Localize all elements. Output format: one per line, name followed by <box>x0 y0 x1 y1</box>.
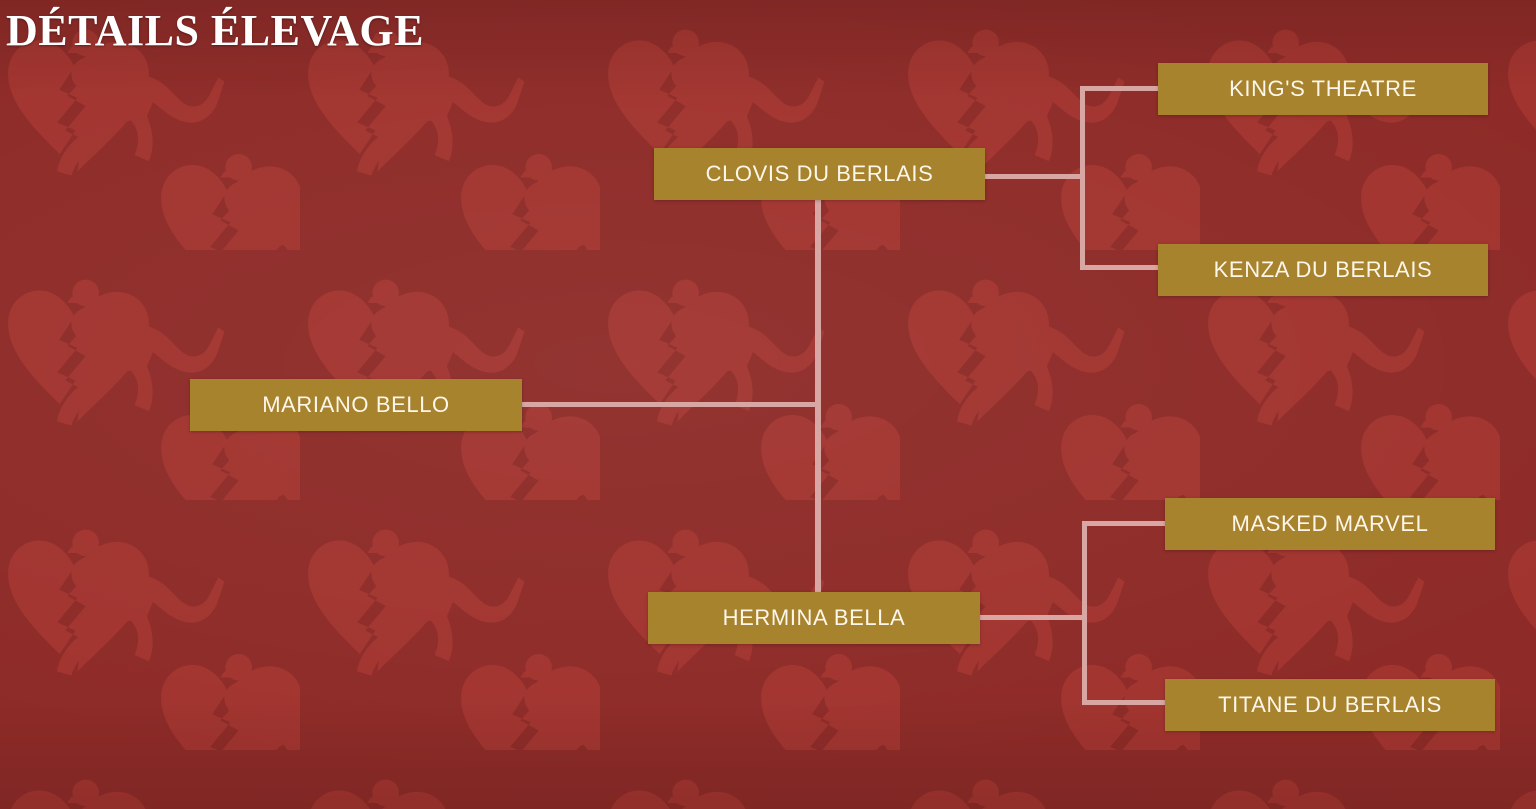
pedigree-node-label: KING'S THEATRE <box>1229 76 1417 102</box>
pedigree-node-label: TITANE DU BERLAIS <box>1218 692 1442 718</box>
pedigree-node-dam[interactable]: HERMINA BELLA <box>648 592 980 644</box>
pedigree-node-label: CLOVIS DU BERLAIS <box>706 161 934 187</box>
connector-dam-sire-branch <box>1082 521 1168 526</box>
connector-dam-trunk <box>980 615 1085 620</box>
pedigree-node-subject[interactable]: MARIANO BELLO <box>190 379 522 431</box>
pedigree-node-sire-dam[interactable]: KENZA DU BERLAIS <box>1158 244 1488 296</box>
connector-dam-vertical <box>1082 521 1087 705</box>
connector-sire-sire-branch <box>1080 86 1160 91</box>
pedigree-node-sire-sire[interactable]: KING'S THEATRE <box>1158 63 1488 115</box>
connector-subject-trunk <box>522 402 820 407</box>
pedigree-node-label: KENZA DU BERLAIS <box>1214 257 1433 283</box>
pedigree-node-dam-dam[interactable]: TITANE DU BERLAIS <box>1165 679 1495 731</box>
connector-sire-trunk <box>985 174 1085 179</box>
connector-dam-dam-branch <box>1082 700 1168 705</box>
pedigree-node-label: HERMINA BELLA <box>723 605 906 631</box>
connector-subject-spine <box>815 198 821 594</box>
page-title: DÉTAILS ÉLEVAGE <box>6 8 424 54</box>
pedigree-canvas: DÉTAILS ÉLEVAGE CLOVIS DU BERLAIS MARIAN… <box>0 0 1536 809</box>
pedigree-node-dam-sire[interactable]: MASKED MARVEL <box>1165 498 1495 550</box>
connector-sire-dam-branch <box>1080 265 1160 270</box>
pedigree-node-label: MASKED MARVEL <box>1232 511 1429 537</box>
connector-sire-vertical <box>1080 86 1085 270</box>
pedigree-node-sire[interactable]: CLOVIS DU BERLAIS <box>654 148 985 200</box>
pedigree-node-label: MARIANO BELLO <box>262 392 450 418</box>
